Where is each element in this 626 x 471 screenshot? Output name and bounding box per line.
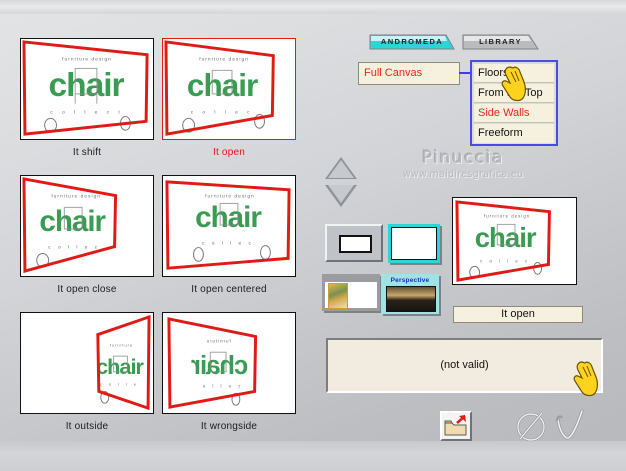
menu-item-side-walls[interactable]: Side Walls	[474, 104, 554, 123]
poster-preview-open: furniture design chair c o l l e c	[163, 39, 295, 139]
preview-image: furniture design chair c o l l e c	[453, 198, 576, 284]
svg-text:c o l l e c: c o l l e c	[480, 259, 530, 264]
poster-preview-outside: furniture chair c o l l e	[21, 313, 153, 413]
check-mark-icon	[553, 405, 587, 445]
preview-pane[interactable]: furniture design chair c o l l e c	[452, 197, 577, 285]
view-large-button[interactable]	[388, 224, 440, 263]
window-top-bevel	[0, 0, 626, 14]
gallery-item-3[interactable]: furniture design chair c o l l e c It op…	[162, 175, 296, 277]
gallery-thumb-0[interactable]: furniture design chair c o l l e c t	[20, 38, 154, 140]
thumb-perspective-label: Perspective	[384, 276, 436, 285]
watermark-url: www.maidiresgrafica.eu	[378, 169, 548, 180]
watermark: Pinuccia www.maidiresgrafica.eu	[378, 148, 548, 180]
scroll-down-button[interactable]	[325, 185, 357, 209]
svg-text:c o l l e: c o l l e	[200, 384, 241, 389]
svg-text:c o l l e c: c o l l e c	[48, 245, 100, 251]
poster-preview-open-close: furniture design chair c o l l e c	[21, 176, 153, 276]
poster-preview-shift: furniture design chair c o l l e c t	[21, 39, 153, 139]
gallery-thumb-1[interactable]: furniture design chair c o l l e c	[162, 38, 296, 140]
view-large-icon	[391, 227, 437, 260]
svg-text:furniture design: furniture design	[199, 57, 249, 63]
view-small-button[interactable]	[325, 224, 383, 262]
gallery-item-0[interactable]: furniture design chair c o l l e c t It …	[20, 38, 154, 140]
svg-text:c o l l e c: c o l l e c	[202, 241, 254, 247]
gallery-caption-1: It open	[162, 147, 296, 158]
gallery-item-2[interactable]: furniture design chair c o l l e c It op…	[20, 175, 154, 277]
folder-open-icon	[442, 413, 470, 439]
gallery-thumb-4[interactable]: furniture chair c o l l e	[20, 312, 154, 414]
gallery-caption-0: It shift	[20, 147, 154, 158]
svg-text:furniture design: furniture design	[484, 214, 530, 219]
thumb-image-button[interactable]	[322, 274, 380, 311]
gallery-thumb-2[interactable]: furniture design chair c o l l e c	[20, 175, 154, 277]
gallery-caption-3: It open centered	[162, 284, 296, 295]
gallery-caption-2: It open close	[20, 284, 154, 295]
scroll-arrows	[325, 157, 357, 212]
plugin-window: furniture design chair c o l l e c t It …	[0, 0, 626, 471]
poster-preview-wrongside: furniture chair c o l l e	[163, 313, 295, 413]
svg-text:furniture design: furniture design	[62, 57, 112, 63]
menu-item-floors[interactable]: Floors	[474, 64, 554, 83]
svg-text:c o l l e c t: c o l l e c t	[50, 110, 123, 116]
thumb-perspective-icon	[386, 286, 436, 312]
tab-andromeda-label: ANDROMEDA	[381, 37, 443, 46]
gallery-item-4[interactable]: furniture chair c o l l e It outside	[20, 312, 154, 414]
svg-text:furniture design: furniture design	[51, 194, 101, 200]
status-message-box[interactable]: (not valid)	[326, 338, 603, 393]
view-small-icon	[339, 235, 372, 253]
tab-andromeda[interactable]: ANDROMEDA	[368, 33, 456, 51]
gallery-caption-4: It outside	[20, 421, 154, 432]
svg-text:furniture: furniture	[206, 338, 231, 343]
ok-button[interactable]	[553, 405, 587, 445]
cancel-slash-circle-icon	[513, 408, 549, 444]
menu-submenu: Floors From the Top Side Walls Freeform	[470, 60, 558, 146]
gallery-item-1[interactable]: furniture design chair c o l l e c It op…	[162, 38, 296, 140]
gallery-thumb-3[interactable]: furniture design chair c o l l e c	[162, 175, 296, 277]
tab-library-label: LIBRARY	[479, 37, 522, 46]
poster-preview-open-centered: furniture design chair c o l l e c	[163, 176, 295, 276]
menu-parent-full-canvas[interactable]: Full Canvas	[358, 62, 460, 85]
triangle-up-inner-icon	[328, 160, 354, 178]
preview-label: It open	[453, 306, 583, 323]
tab-library[interactable]: LIBRARY	[461, 33, 540, 51]
preset-gallery: furniture design chair c o l l e c t It …	[0, 30, 313, 460]
cancel-button[interactable]	[513, 408, 549, 444]
gallery-item-5[interactable]: furniture chair c o l l e It wrongside	[162, 312, 296, 414]
gallery-thumb-5[interactable]: furniture chair c o l l e	[162, 312, 296, 414]
svg-text:chair: chair	[96, 354, 144, 379]
svg-text:chair: chair	[187, 68, 258, 103]
triangle-down-inner-icon	[328, 185, 354, 203]
svg-text:c o l l e c: c o l l e c	[191, 110, 254, 116]
thumb-image-icon	[328, 283, 348, 309]
svg-text:c o l l e: c o l l e	[100, 382, 139, 387]
svg-text:chair: chair	[48, 67, 124, 104]
thumb-perspective-button[interactable]: Perspective	[381, 274, 439, 314]
gallery-caption-5: It wrongside	[162, 421, 296, 432]
svg-text:furniture: furniture	[110, 342, 133, 347]
panel-tabs: ANDROMEDA LIBRARY	[368, 33, 540, 53]
svg-text:furniture design: furniture design	[205, 194, 255, 200]
menu-item-from-the-top[interactable]: From the Top	[474, 84, 554, 103]
svg-text:chair: chair	[195, 201, 262, 234]
watermark-title: Pinuccia	[378, 148, 548, 168]
menu-item-freeform[interactable]: Freeform	[474, 124, 554, 143]
load-preset-button[interactable]	[440, 411, 472, 441]
svg-text:chair: chair	[191, 352, 248, 380]
scroll-up-button[interactable]	[325, 157, 357, 181]
svg-text:chair: chair	[39, 205, 106, 238]
svg-text:chair: chair	[475, 222, 537, 253]
